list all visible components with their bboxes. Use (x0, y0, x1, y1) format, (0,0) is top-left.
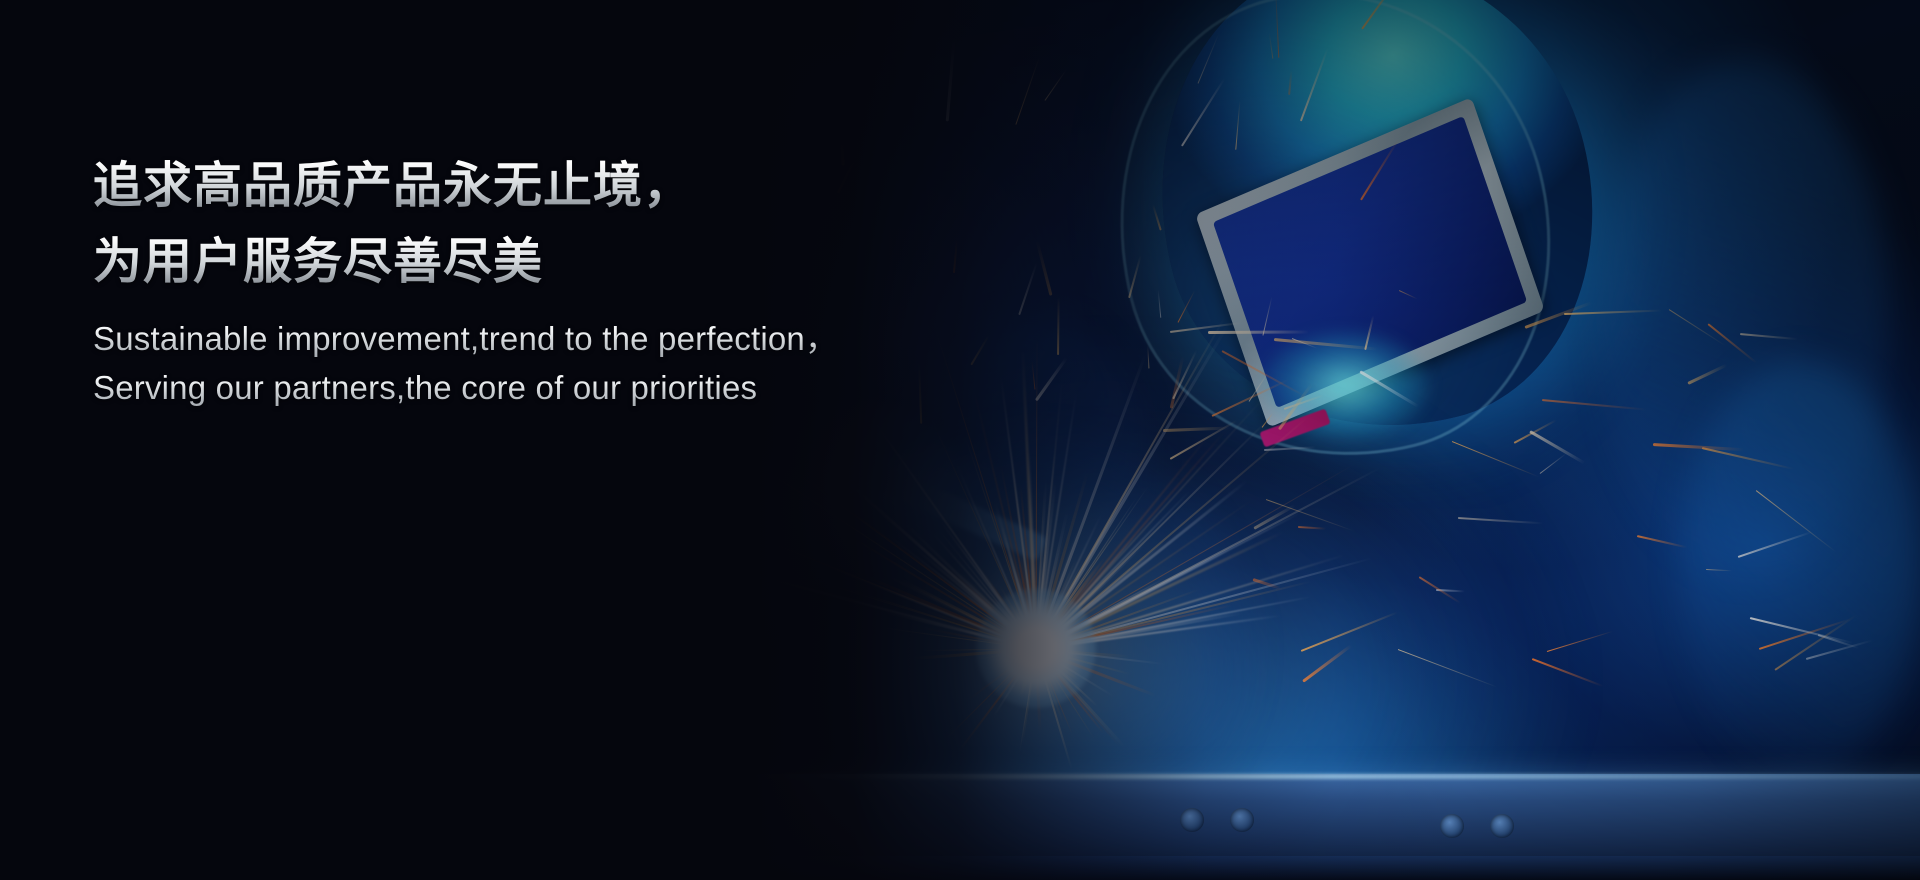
headline-cn-line1: 追求高品质产品永无止境， (93, 148, 1093, 224)
spark (1249, 373, 1269, 402)
spark (1738, 531, 1813, 558)
spark (1177, 290, 1195, 323)
spark (1157, 289, 1161, 317)
spark (1564, 310, 1662, 316)
spark (1653, 443, 1744, 451)
subhead-en-line1: Sustainable improvement,trend to the per… (93, 314, 1093, 363)
welding-photo (620, 0, 1920, 880)
spark (1015, 57, 1040, 124)
spark (1360, 139, 1399, 200)
weld-flash-core (976, 588, 1096, 708)
spark (1128, 255, 1141, 297)
spark (1359, 370, 1419, 408)
hero-banner: 追求高品质产品永无止境， 为用户服务尽善尽美 Sustainable impro… (0, 0, 1920, 880)
spark (1637, 535, 1688, 549)
spark (1756, 491, 1837, 554)
spark (1361, 0, 1406, 30)
spark (1303, 644, 1353, 682)
spark (1514, 419, 1557, 443)
spark (1147, 345, 1149, 368)
headline-cn-line2: 为用户服务尽善尽美 (93, 224, 1093, 300)
spark (1687, 364, 1727, 385)
spark (1399, 290, 1417, 299)
spark (1269, 33, 1274, 59)
spark (1181, 78, 1226, 147)
spark (1152, 205, 1162, 231)
spark (1288, 69, 1292, 94)
spark (1275, 0, 1280, 58)
spark (946, 39, 955, 121)
spark (1542, 399, 1646, 410)
spark (1197, 34, 1219, 84)
spark (1705, 569, 1731, 572)
spark (1398, 649, 1497, 687)
spark (1458, 517, 1542, 524)
spark (1298, 526, 1326, 530)
spark (1208, 330, 1309, 333)
spark (1540, 453, 1567, 474)
hero-copy: 追求高品质产品永无止境， 为用户服务尽善尽美 Sustainable impro… (93, 148, 1093, 412)
spark (1708, 323, 1758, 364)
spark (1701, 447, 1793, 470)
spark (1262, 413, 1274, 428)
spark (1750, 617, 1853, 643)
spark (1531, 658, 1603, 687)
subhead-en-line2: Serving our partners,the core of our pri… (93, 363, 1093, 412)
spark (1044, 69, 1067, 101)
spark (1524, 302, 1592, 330)
spark (1452, 441, 1540, 478)
spark (1300, 47, 1329, 121)
sparks-icon (620, 0, 1920, 880)
spark (1235, 102, 1240, 151)
spark (1547, 631, 1613, 653)
spark (1274, 338, 1378, 351)
spark (1669, 309, 1726, 346)
spark (1740, 333, 1798, 340)
spark (1364, 316, 1374, 350)
